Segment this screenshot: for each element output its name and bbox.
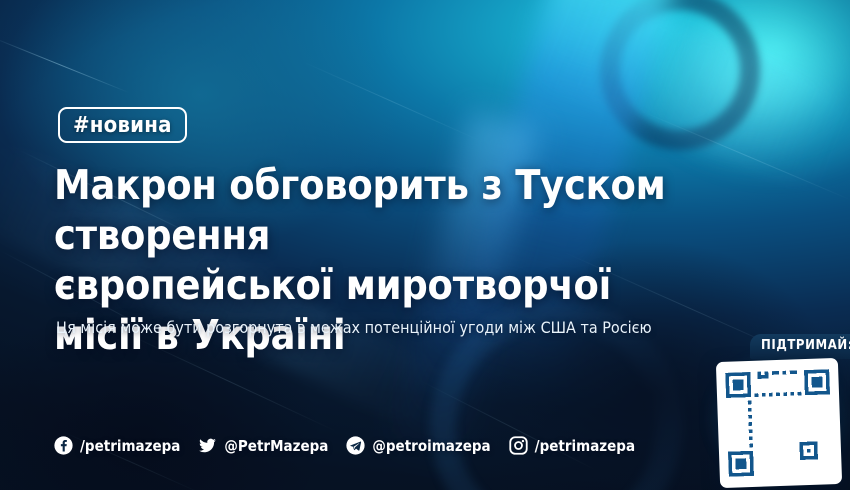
headline-line-1: Макрон обговорить з Туском створення bbox=[54, 160, 694, 260]
social-handle-instagram: /petrimazepa bbox=[535, 437, 635, 455]
social-link-twitter[interactable]: @PetrMazepa bbox=[198, 436, 328, 455]
news-poster: #новина Макрон обговорить з Туском створ… bbox=[0, 0, 850, 490]
instagram-icon bbox=[509, 436, 528, 455]
social-links: /petrimazepa @PetrMazepa @petroimazepa bbox=[54, 436, 635, 455]
qr-card[interactable] bbox=[716, 358, 842, 488]
subtitle: Ця місія може бути розгорнута в межах по… bbox=[56, 318, 676, 338]
qr-code-icon bbox=[725, 369, 833, 477]
social-handle-facebook: /petrimazepa bbox=[80, 437, 180, 455]
social-handle-telegram: @petroimazepa bbox=[372, 437, 490, 455]
social-link-instagram[interactable]: /petrimazepa bbox=[509, 436, 635, 455]
headline-line-2: європейської миротворчої місії в Україні bbox=[54, 260, 694, 360]
facebook-icon bbox=[54, 436, 73, 455]
twitter-icon bbox=[198, 436, 217, 455]
social-link-facebook[interactable]: /petrimazepa bbox=[54, 436, 180, 455]
social-handle-twitter: @PetrMazepa bbox=[224, 437, 328, 455]
social-link-telegram[interactable]: @petroimazepa bbox=[346, 436, 490, 455]
news-badge: #новина bbox=[58, 107, 187, 143]
support-label: ПІДТРИМАЙ: bbox=[750, 334, 850, 359]
telegram-icon bbox=[346, 436, 365, 455]
support-qr-block[interactable]: ПІДТРИМАЙ: bbox=[706, 330, 850, 490]
